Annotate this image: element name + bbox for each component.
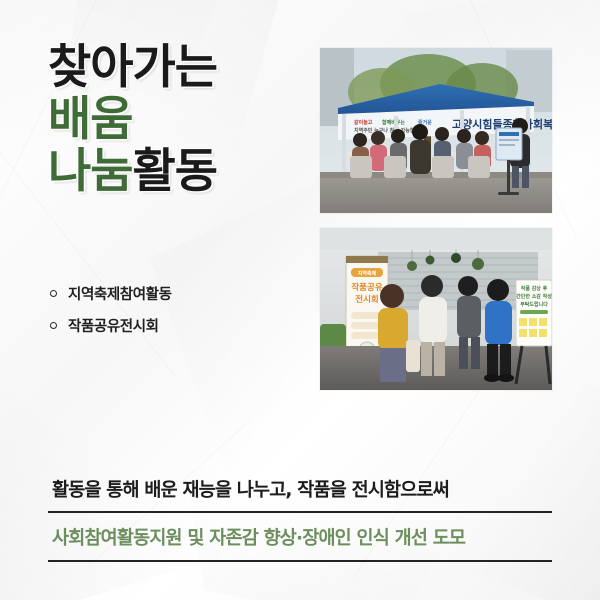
- list-item: 지역축제참여활동: [50, 283, 172, 304]
- exhibition-photo: 지역축제 작품공유 전시회: [320, 228, 552, 390]
- exhibition-illustration: 지역축제 작품공유 전시회: [320, 228, 552, 390]
- title-line-3-black: 활동: [132, 144, 216, 199]
- poster-title: 찾아가는 배움 나눔활동: [48, 42, 217, 198]
- svg-text:작품 감상 후: 작품 감상 후: [521, 285, 548, 292]
- statement-line-1: 활동을 통해 배운 재능을 나누고, 작품을 전시함으로써: [48, 476, 552, 511]
- title-line-3-green: 나눔: [48, 144, 132, 199]
- list-item-label: 작품공유전시회: [68, 315, 159, 336]
- svg-text:지역축제: 지역축제: [358, 270, 377, 277]
- poster-canvas: 찾아가는 배움 나눔활동 지역축제참여활동 작품공유전시회: [0, 0, 600, 600]
- svg-text:간단한 소감 작성: 간단한 소감 작성: [516, 293, 552, 300]
- statement-line-2: 사회참여활동지원 및 자존감 향상·장애인 인식 개선 도모: [48, 513, 552, 560]
- circle-outline-bullet-icon: [50, 290, 57, 297]
- circle-outline-bullet-icon: [50, 322, 57, 329]
- svg-text:부탁드립니다: 부탁드립니다: [520, 301, 548, 308]
- title-line-1: 찾아가는: [48, 42, 217, 94]
- svg-text:함께배우는: 함께배우는: [382, 119, 405, 126]
- svg-text:전시회: 전시회: [355, 294, 378, 305]
- list-item-label: 지역축제참여활동: [68, 283, 172, 304]
- statement-divider-bottom: [48, 560, 552, 562]
- festival-booth-photo: 고양시힘들종합사회복지관 같이놀고 함께배우는 즐거운 지역주민 누구나 참여 …: [320, 48, 552, 213]
- svg-text:같이놀고: 같이놀고: [354, 119, 373, 126]
- activity-bullet-list: 지역축제참여활동 작품공유전시회: [50, 283, 172, 347]
- festival-booth-illustration: 고양시힘들종합사회복지관 같이놀고 함께배우는 즐거운 지역주민 누구나 참여 …: [320, 48, 552, 213]
- title-line-2: 배움: [48, 94, 217, 146]
- list-item: 작품공유전시회: [50, 315, 172, 336]
- title-line-3: 나눔활동: [48, 146, 217, 198]
- poster-statement: 활동을 통해 배운 재능을 나누고, 작품을 전시함으로써 사회참여활동지원 및…: [48, 476, 552, 562]
- svg-text:작품공유: 작품공유: [351, 282, 382, 293]
